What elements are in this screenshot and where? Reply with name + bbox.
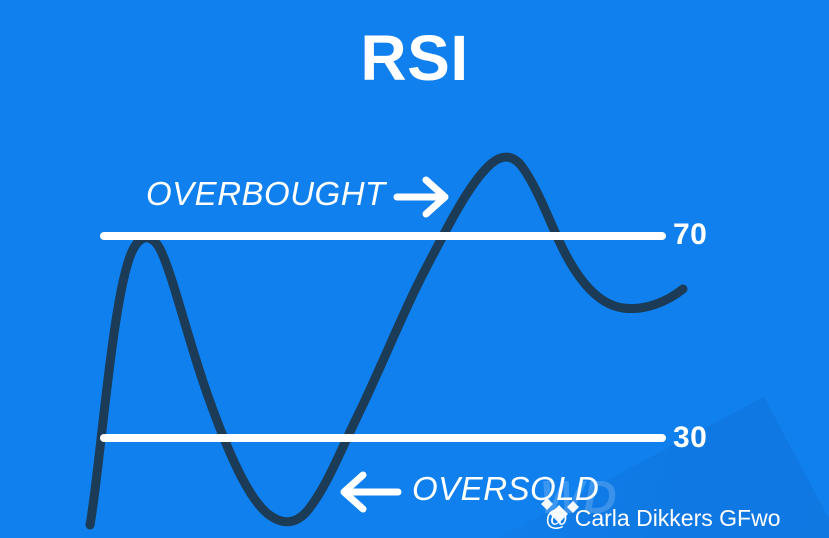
level-label-30: 30 [673, 421, 707, 455]
overbought-label: OVERBOUGHT [146, 175, 386, 213]
watermark-text: @ Carla Dikkers GFwo [545, 505, 781, 532]
level-label-70: 70 [673, 218, 707, 252]
arrow-right-icon [397, 180, 445, 214]
arrow-left-icon [344, 475, 398, 509]
oversold-label: OVERSOLD [412, 470, 599, 508]
watermark: @ Carla Dikkers GFwo [545, 505, 781, 532]
chart-plot [0, 0, 829, 538]
rsi-chart-image: RSI WD 70 30 OVERBOUGHT OVERSOLD @ Carla… [0, 0, 829, 538]
